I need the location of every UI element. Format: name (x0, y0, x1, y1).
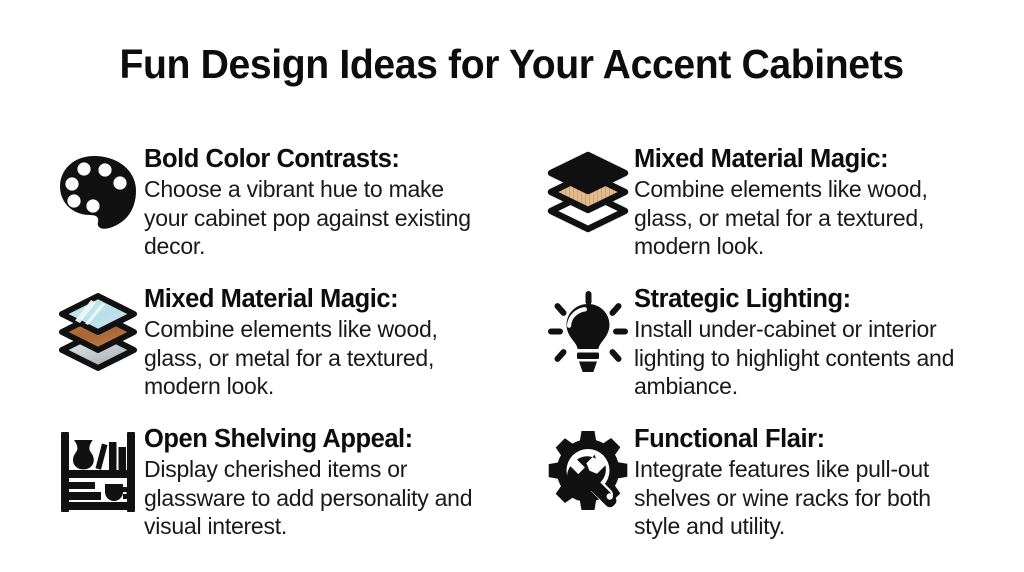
list-item: Open Shelving Appeal: Display cherished … (52, 420, 492, 550)
list-item-description: Integrate features like pull-out shelves… (634, 455, 982, 541)
list-item-title: Open Shelving Appeal: (144, 424, 492, 454)
page-title: Fun Design Ideas for Your Accent Cabinet… (120, 40, 904, 88)
list-item-body: Mixed Material Magic: Combine elements l… (144, 280, 492, 401)
list-item-title: Strategic Lighting: (634, 284, 982, 314)
list-item: Bold Color Contrasts: Choose a vibrant h… (52, 140, 492, 270)
list-item-description: Combine elements like wood, glass, or me… (634, 175, 982, 261)
paint-palette-icon (52, 140, 144, 236)
list-item-title: Functional Flair: (634, 424, 982, 454)
infographic-page: Fun Design Ideas for Your Accent Cabinet… (0, 0, 1024, 572)
ideas-grid: Bold Color Contrasts: Choose a vibrant h… (52, 140, 982, 550)
list-item-description: Display cherished items or glassware to … (144, 455, 492, 541)
list-item-title: Bold Color Contrasts: (144, 144, 492, 174)
list-item-title: Mixed Material Magic: (634, 144, 982, 174)
list-item-body: Bold Color Contrasts: Choose a vibrant h… (144, 140, 492, 261)
title-container: Fun Design Ideas for Your Accent Cabinet… (0, 40, 1024, 88)
list-item-description: Combine elements like wood, glass, or me… (144, 315, 492, 401)
list-item-body: Mixed Material Magic: Combine elements l… (634, 140, 982, 261)
list-item-body: Strategic Lighting: Install under-cabine… (634, 280, 982, 401)
list-item-title: Mixed Material Magic: (144, 284, 492, 314)
open-shelving-icon (52, 420, 144, 516)
list-item-body: Open Shelving Appeal: Display cherished … (144, 420, 492, 541)
list-item-description: Choose a vibrant hue to make your cabine… (144, 175, 492, 261)
layers-color-icon (52, 280, 144, 376)
list-item-body: Functional Flair: Integrate features lik… (634, 420, 982, 541)
list-item: Strategic Lighting: Install under-cabine… (542, 280, 982, 410)
list-item-description: Install under-cabinet or interior lighti… (634, 315, 982, 401)
list-item: Functional Flair: Integrate features lik… (542, 420, 982, 550)
lightbulb-icon (542, 280, 634, 376)
list-item: Mixed Material Magic: Combine elements l… (542, 140, 982, 270)
layers-wood-icon (542, 140, 634, 236)
list-item: Mixed Material Magic: Combine elements l… (52, 280, 492, 410)
gear-wrench-icon (542, 420, 634, 516)
